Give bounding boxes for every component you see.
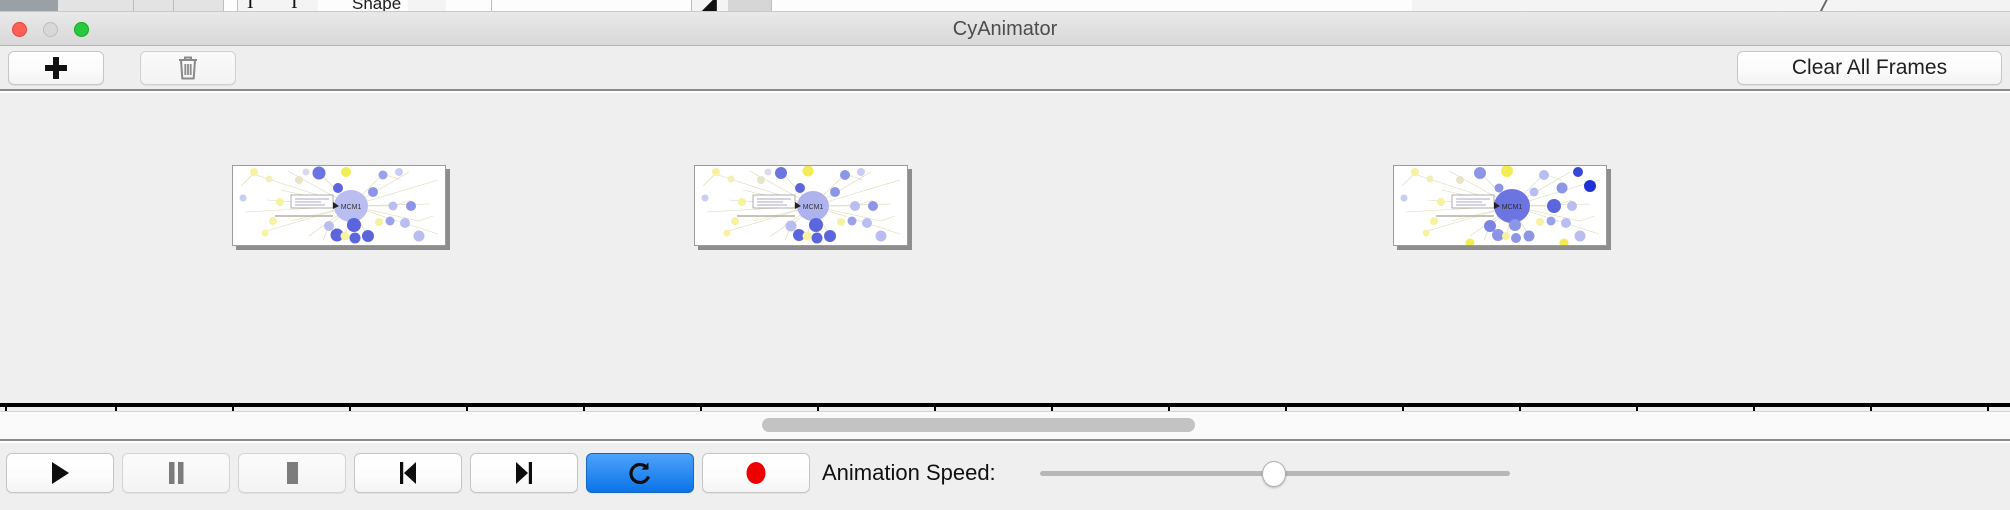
timeline-panel[interactable]: MCM1	[0, 93, 2010, 411]
skip-previous-icon	[397, 461, 419, 485]
toolbar: Clear All Frames	[0, 46, 2010, 91]
window-title: CyAnimator	[0, 12, 2010, 46]
slider-thumb[interactable]	[1262, 461, 1286, 487]
clear-all-frames-button[interactable]: Clear All Frames	[1737, 51, 2002, 85]
hub-node-label: MCM1	[803, 204, 824, 211]
record-button[interactable]	[702, 453, 810, 493]
bg-chunk	[0, 0, 58, 12]
graph-tooltip	[291, 195, 339, 209]
add-frame-button[interactable]	[8, 51, 104, 85]
animation-speed-label: Animation Speed:	[822, 453, 996, 493]
bg-chunk	[492, 0, 692, 12]
loop-button[interactable]	[586, 453, 694, 493]
network-graph-preview: MCM1	[1394, 166, 1607, 246]
stop-button[interactable]	[238, 453, 346, 493]
bg-chunk	[446, 0, 492, 12]
bg-chunk	[1860, 0, 2010, 12]
clear-all-frames-label: Clear All Frames	[1792, 56, 1947, 80]
timeline-ruler	[0, 403, 2010, 407]
bg-glyph: ◢	[700, 0, 717, 12]
frame-canvas: MCM1	[1393, 165, 1607, 246]
play-icon	[49, 461, 71, 485]
hub-node-label: MCM1	[1502, 204, 1523, 211]
pause-icon	[166, 461, 186, 485]
skip-next-icon	[513, 461, 535, 485]
graph-tooltip	[753, 195, 801, 209]
record-icon	[743, 460, 769, 486]
background-window-strip: I I Shape ◢ ╱	[0, 0, 2010, 12]
trash-icon	[176, 55, 200, 81]
loop-icon	[627, 460, 653, 486]
scrollbar-thumb[interactable]	[762, 418, 1195, 432]
timeline-frame-thumbnail[interactable]: MCM1	[232, 165, 450, 250]
stop-icon	[282, 461, 302, 485]
timeline-frame-thumbnail[interactable]: MCM1	[1393, 165, 1611, 250]
graph-tooltip	[1452, 195, 1500, 209]
bg-glyph: I	[291, 0, 298, 12]
network-graph-preview: MCM1	[233, 166, 446, 246]
bg-glyph: I	[247, 0, 254, 12]
hub-node-label: MCM1	[341, 204, 362, 211]
animation-speed-slider[interactable]	[1040, 453, 1510, 493]
plus-icon	[45, 57, 67, 79]
bg-chunk	[224, 0, 238, 12]
timeline-frame-thumbnail[interactable]: MCM1	[694, 165, 912, 250]
bg-chunk	[772, 0, 1412, 12]
pause-button[interactable]	[122, 453, 230, 493]
network-graph-preview: MCM1	[695, 166, 908, 246]
prev-frame-button[interactable]	[354, 453, 462, 493]
horizontal-scrollbar[interactable]	[0, 411, 2010, 441]
bg-chunk	[728, 0, 772, 12]
delete-frame-button[interactable]	[140, 51, 236, 85]
transport-bar: Animation Speed:	[0, 443, 2010, 510]
frame-canvas: MCM1	[232, 165, 446, 246]
frame-canvas: MCM1	[694, 165, 908, 246]
bg-chunk	[134, 0, 174, 12]
window-titlebar: CyAnimator	[0, 12, 2010, 46]
play-button[interactable]	[6, 453, 114, 493]
bg-chunk	[174, 0, 224, 12]
bg-window-label: Shape	[352, 0, 401, 12]
next-frame-button[interactable]	[470, 453, 578, 493]
bg-glyph: ╱	[1818, 0, 1832, 12]
bg-chunk	[58, 0, 134, 12]
